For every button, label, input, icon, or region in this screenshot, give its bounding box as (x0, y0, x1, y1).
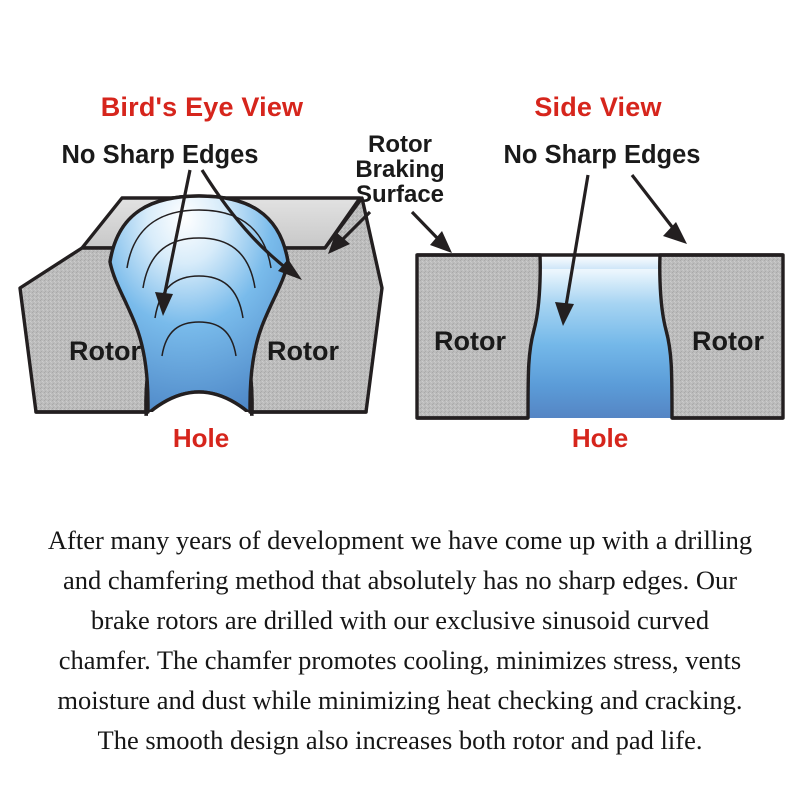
paragraph-line: The smooth design also increases both ro… (8, 720, 792, 760)
paragraph-line: brake rotors are drilled with our exclus… (8, 600, 792, 640)
rotor-braking-surface-label-line3: Surface (356, 181, 444, 208)
arrow-head-icon (663, 222, 687, 244)
right-view-rotor-label-right: Rotor (692, 326, 764, 356)
birds-eye-view-block: Rotor Rotor Hole (20, 196, 382, 453)
description-paragraph: After many years of development we have … (0, 520, 800, 760)
side-view-block: Rotor Rotor Hole (417, 255, 783, 453)
left-view-hole-label: Hole (173, 423, 229, 453)
right-view-rotor-label-left: Rotor (434, 326, 506, 356)
right-view-hole-label: Hole (572, 423, 628, 453)
paragraph-line: chamfer. The chamfer promotes cooling, m… (8, 640, 792, 680)
paragraph-line: After many years of development we have … (8, 520, 792, 560)
right-view-title: Side View (534, 92, 662, 122)
left-no-sharp-edges-label: No Sharp Edges (62, 141, 259, 169)
rotor-braking-surface-label-line1: Rotor (368, 131, 432, 158)
figure-root: Bird's Eye View Side View No Sharp Edges… (0, 0, 800, 800)
side-view-hole-column (524, 255, 674, 418)
leader-right-no-sharp-edges-b (632, 175, 687, 244)
left-view-rotor-label-left: Rotor (69, 336, 141, 366)
rotor-chamfer-diagram: Bird's Eye View Side View No Sharp Edges… (0, 0, 800, 500)
left-view-rotor-label-right: Rotor (267, 336, 339, 366)
left-view-title: Bird's Eye View (101, 92, 304, 122)
right-no-sharp-edges-label: No Sharp Edges (504, 141, 701, 169)
rotor-braking-surface-label-line2: Braking (355, 156, 444, 183)
paragraph-line: and chamfering method that absolutely ha… (8, 560, 792, 600)
paragraph-line: moisture and dust while minimizing heat … (8, 680, 792, 720)
leader-braking-surface-right (412, 212, 452, 253)
